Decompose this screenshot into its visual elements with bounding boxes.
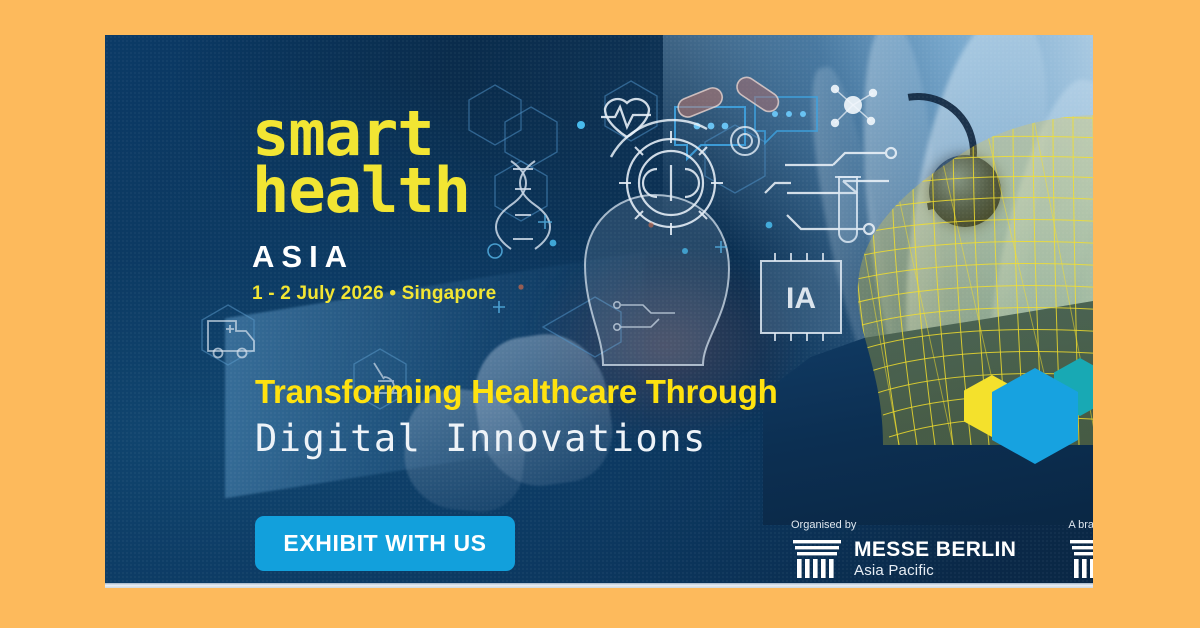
logo-region: ASIA — [252, 239, 496, 275]
heart-pulse-icon — [601, 99, 651, 137]
event-logo: smart health ASIA 1 - 2 July 2026 • Sing… — [252, 105, 496, 305]
ambulance-icon — [208, 321, 254, 358]
brand-of-logo: A brand of — [1068, 519, 1093, 580]
logo-word-health: health — [252, 162, 496, 219]
messe-berlin-mark-icon — [791, 538, 843, 580]
headline: Transforming Healthcare Through Digital … — [255, 373, 777, 460]
organiser-name: MESSE BERLIN — [854, 539, 1016, 560]
brand-of-kicker: A brand of — [1068, 519, 1093, 531]
event-date-location: 1 - 2 July 2026 • Singapore — [252, 283, 496, 305]
headline-line-2: Digital Innovations — [255, 417, 777, 460]
banner-bottom-edge — [105, 583, 1093, 588]
organiser-subtitle: Asia Pacific — [854, 562, 1016, 579]
exhibit-with-us-button[interactable]: EXHIBIT WITH US — [255, 516, 515, 571]
partner-logos: Organised by — [791, 519, 1093, 580]
organiser-kicker: Organised by — [791, 519, 1016, 531]
banner-canvas: IA — [0, 0, 1200, 628]
headline-line-1: Transforming Healthcare Through — [255, 373, 777, 411]
organiser-logo: Organised by — [791, 519, 1016, 580]
event-banner: IA — [105, 35, 1093, 587]
messe-berlin-mark-icon — [1068, 538, 1093, 580]
dna-helix-icon — [496, 161, 550, 249]
